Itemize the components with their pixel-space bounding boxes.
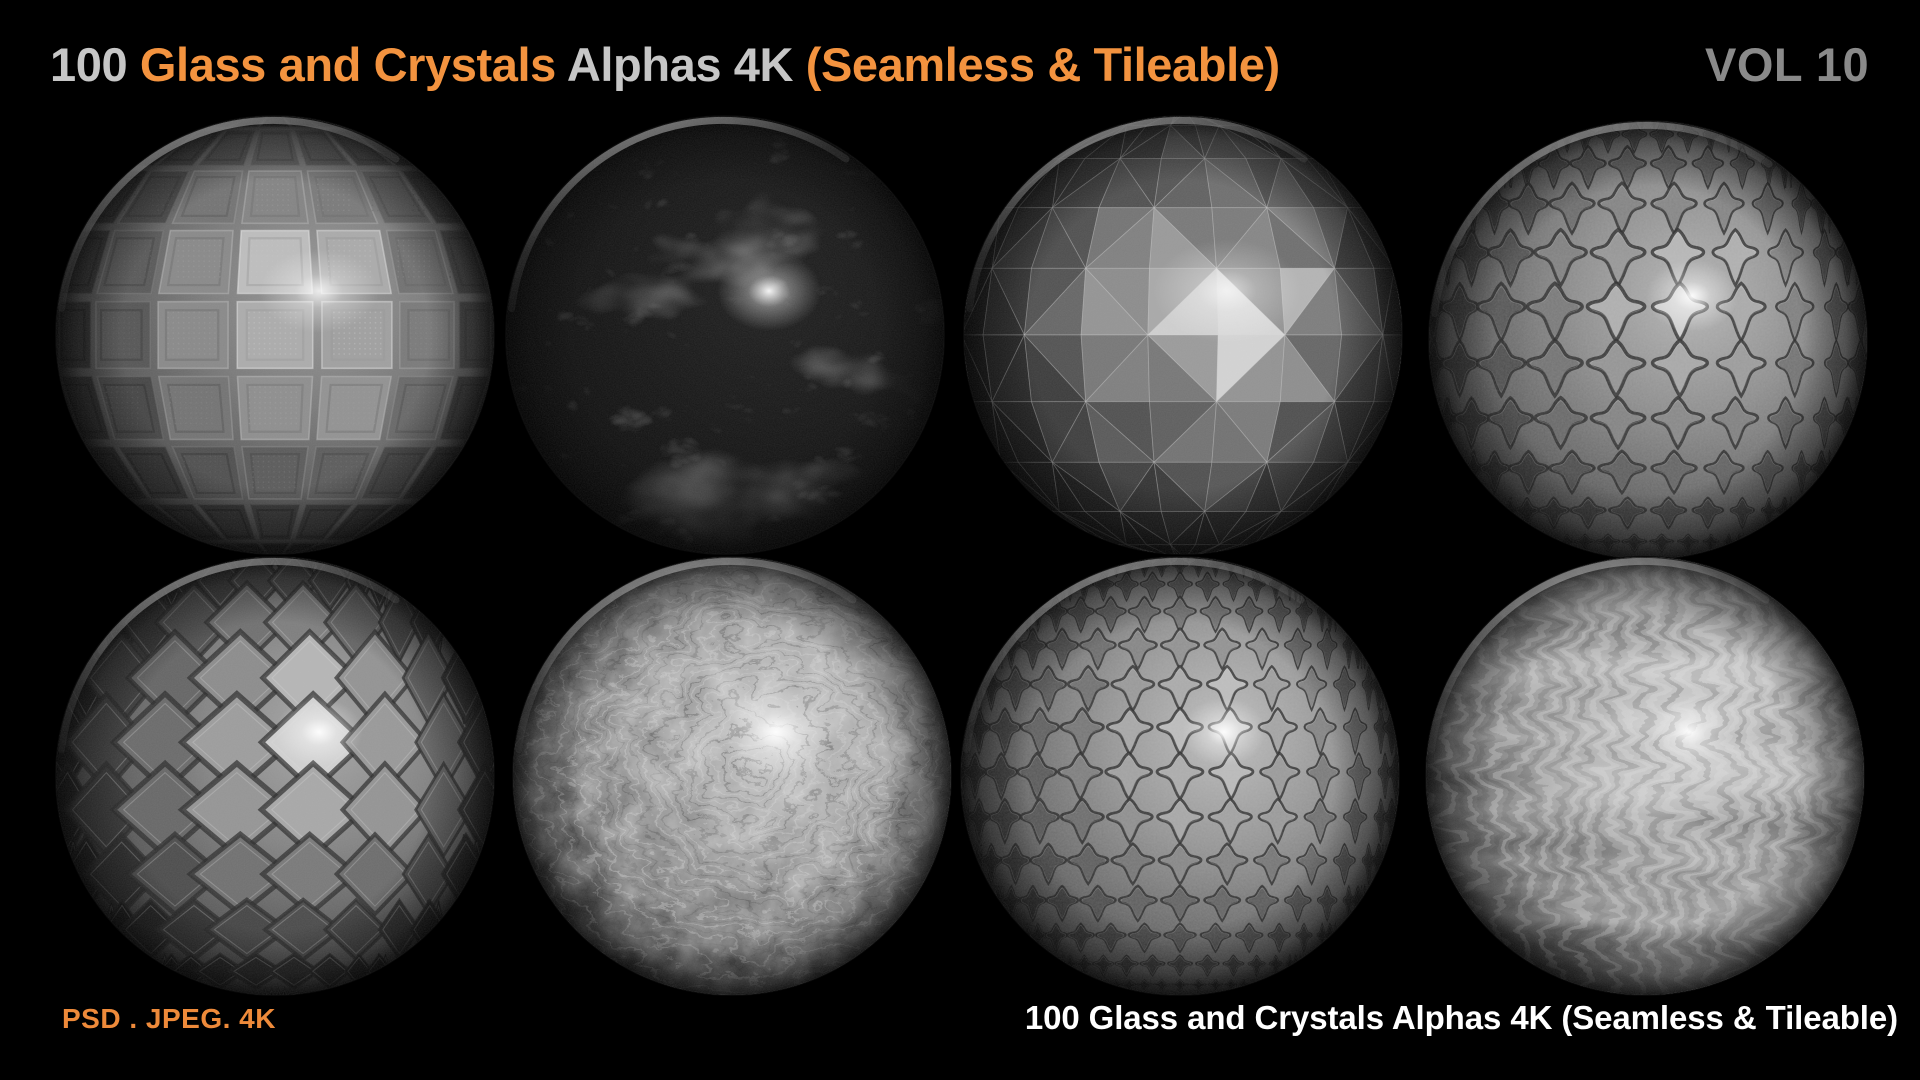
title-segment-1: 100 <box>50 38 140 91</box>
footer-caption: 100 Glass and Crystals Alphas 4K (Seamle… <box>1025 999 1898 1037</box>
title-segment-3: Alphas 4K <box>567 38 806 91</box>
sphere-preview-2 <box>505 115 945 555</box>
file-formats-label: PSD . JPEG. 4K <box>62 1003 276 1035</box>
sphere-preview-3 <box>963 115 1403 555</box>
sphere-preview-1 <box>55 115 495 555</box>
volume-label: VOL 10 <box>1705 30 1869 100</box>
sphere-preview-5 <box>55 556 495 996</box>
preview-sheet: 100 Glass and Crystals Alphas 4K (Seamle… <box>0 0 1920 1080</box>
sphere-preview-7 <box>960 556 1400 996</box>
sphere-preview-8 <box>1425 556 1865 996</box>
sphere-preview-6 <box>512 556 952 996</box>
header-title-row: 100 Glass and Crystals Alphas 4K (Seamle… <box>0 30 1920 100</box>
title-segment-4: (Seamless & Tileable) <box>806 38 1280 91</box>
sphere-preview-4 <box>1428 120 1868 560</box>
title-segment-2: Glass and Crystals <box>140 38 567 91</box>
sphere-grid <box>0 0 1920 1080</box>
page-title: 100 Glass and Crystals Alphas 4K (Seamle… <box>50 30 1280 100</box>
